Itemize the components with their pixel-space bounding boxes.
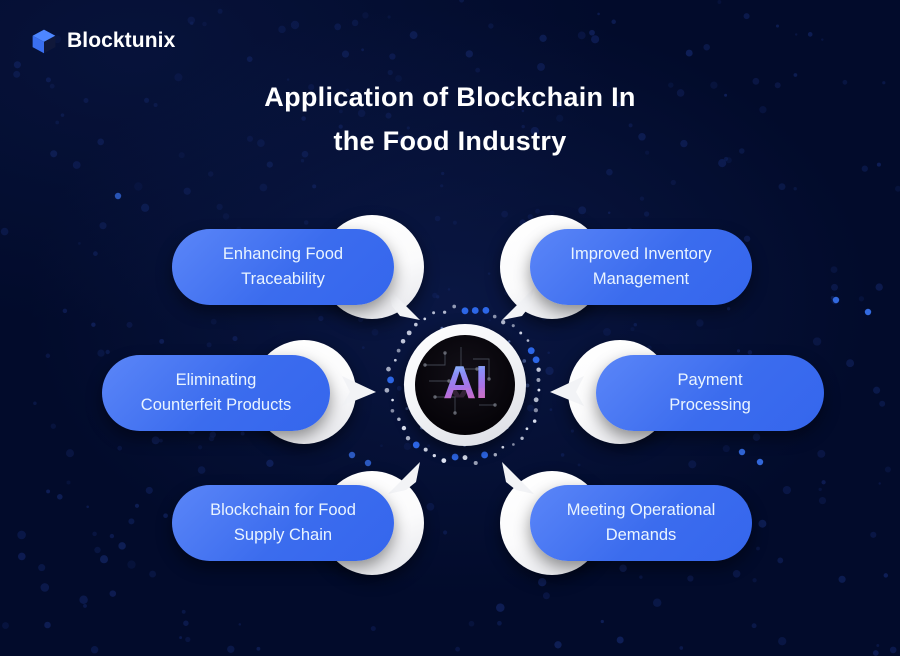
bubble-line-1: Improved Inventory <box>570 242 711 267</box>
bubble-line-2: Supply Chain <box>210 523 356 548</box>
bubble-line-1: Eliminating <box>141 368 291 393</box>
bubble-line-2: Processing <box>669 393 751 418</box>
bubble-eliminating-counterfeit-products[interactable]: Eliminating Counterfeit Products <box>102 340 358 446</box>
brand-logo: Blocktunix <box>30 27 175 55</box>
bubble-payment-processing[interactable]: Payment Processing <box>568 340 824 446</box>
bubble-enhancing-food-traceability[interactable]: Enhancing Food Traceability <box>172 212 424 322</box>
cube-icon <box>30 27 58 55</box>
ai-label: AI <box>443 359 487 405</box>
bubble-tail-icon <box>496 456 536 496</box>
bubble-line-2: Management <box>570 267 711 292</box>
bubble-tail-icon <box>386 456 426 496</box>
center-ai-badge: AI AI <box>382 302 548 468</box>
bubble-blockchain-for-food-supply-chain[interactable]: Blockchain for Food Supply Chain <box>172 462 424 572</box>
bubble-meeting-operational-demands[interactable]: Meeting Operational Demands <box>500 462 752 572</box>
brand-name: Blocktunix <box>67 29 175 53</box>
bubble-pill[interactable]: Enhancing Food Traceability <box>172 229 394 305</box>
bubble-tail-icon <box>548 372 584 412</box>
title-line-1: Application of Blockchain In <box>264 82 635 112</box>
bubble-pill[interactable]: Improved Inventory Management <box>530 229 752 305</box>
bubble-pill[interactable]: Blockchain for Food Supply Chain <box>172 485 394 561</box>
bubble-line-1: Blockchain for Food <box>210 498 356 523</box>
bubble-line-2: Traceability <box>223 267 343 292</box>
title-line-2: the Food Industry <box>0 120 900 164</box>
bubble-pill[interactable]: Payment Processing <box>596 355 824 431</box>
bubble-tail-icon <box>342 372 378 412</box>
ai-inner-circle: AI AI <box>415 335 515 435</box>
bubble-improved-inventory-management[interactable]: Improved Inventory Management <box>500 212 752 322</box>
bubble-line-1: Meeting Operational <box>567 498 716 523</box>
bubble-line-1: Payment <box>669 368 751 393</box>
bubble-line-2: Demands <box>567 523 716 548</box>
bubble-pill[interactable]: Meeting Operational Demands <box>530 485 752 561</box>
bubble-line-1: Enhancing Food <box>223 242 343 267</box>
page-title: Application of Blockchain In the Food In… <box>0 76 900 163</box>
bubble-tail-icon <box>386 286 426 326</box>
ai-disc: AI AI <box>404 324 526 446</box>
bubble-line-2: Counterfeit Products <box>141 393 291 418</box>
bubble-pill[interactable]: Eliminating Counterfeit Products <box>102 355 330 431</box>
bubble-tail-icon <box>496 286 536 326</box>
